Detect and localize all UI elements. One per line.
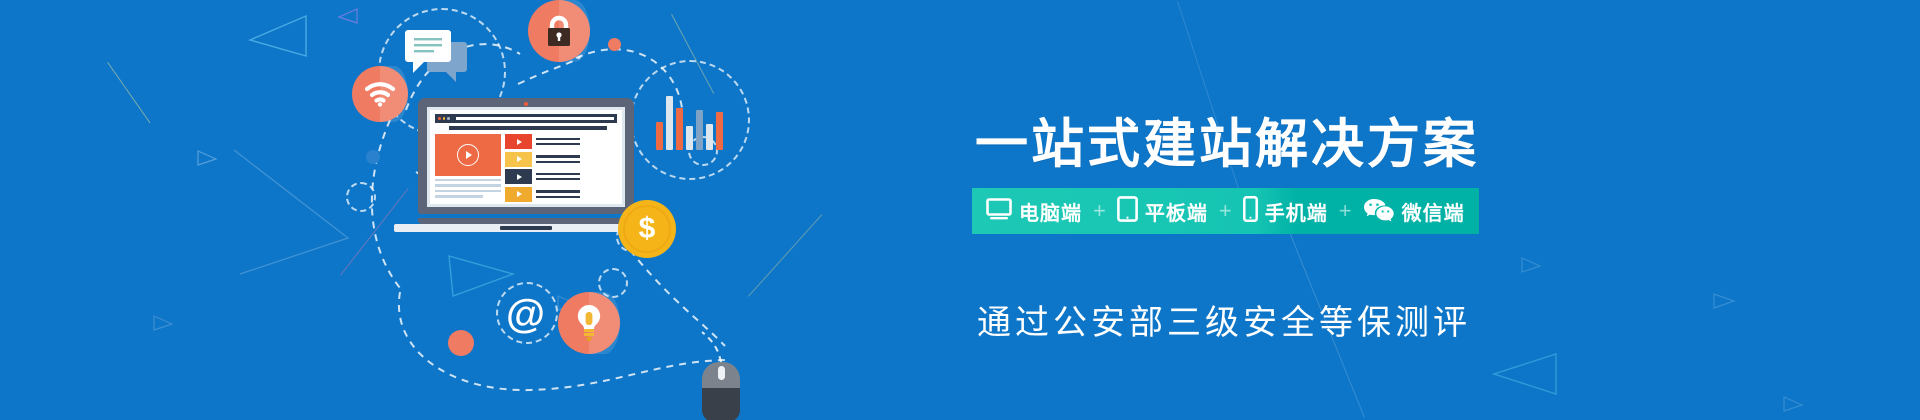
decor-line <box>107 62 150 123</box>
lightbulb-icon <box>558 292 620 354</box>
decor-triangle <box>196 150 218 166</box>
chat-bubbles-icon <box>402 28 480 99</box>
mouse-top-shell <box>702 362 740 388</box>
page-body <box>435 134 617 202</box>
badge-separator: + <box>1093 198 1106 224</box>
traffic-light-red <box>438 117 441 120</box>
list-item <box>505 187 580 202</box>
badge-label-phone: 手机端 <box>1265 197 1328 226</box>
traffic-light-gray <box>447 117 450 120</box>
dollar-coin-icon: $ <box>618 200 676 258</box>
computer-mouse-icon <box>702 362 740 420</box>
browser-url-bar <box>456 117 615 121</box>
page-title: 一站式建站解决方案 <box>975 102 1479 178</box>
browser-chrome <box>435 114 617 123</box>
badge-item-desktop[interactable]: 电脑端 <box>986 197 1082 226</box>
laptop-camera-dot <box>524 102 528 106</box>
badge-label-tablet: 平板端 <box>1145 197 1208 226</box>
laptop-trackpad <box>500 226 552 230</box>
badge-item-tablet[interactable]: 平板端 <box>1117 196 1208 227</box>
badge-label-wechat: 微信端 <box>1402 197 1465 226</box>
decor-triangle <box>248 14 308 58</box>
video-thumbnail <box>505 134 532 149</box>
list-item <box>505 152 580 167</box>
list-item <box>505 134 580 149</box>
certification-text: 通过公安部三级安全等保测评 <box>977 295 1471 344</box>
paragraph-lines <box>435 179 501 198</box>
decor-triangle <box>1782 396 1804 412</box>
badge-separator: + <box>1339 198 1352 224</box>
lock-icon <box>528 0 590 62</box>
laptop-lid <box>418 98 634 214</box>
badge-item-phone[interactable]: 手机端 <box>1243 196 1328 227</box>
video-thumbnail <box>505 187 532 202</box>
promo-banner: $ @ 一 <box>0 0 1920 420</box>
decor-dot <box>448 330 474 356</box>
page-heading-bar <box>449 126 607 130</box>
website-mockup <box>430 110 622 204</box>
platform-badge-bar: 电脑端 + 平板端 + <box>972 188 1479 234</box>
tablet-icon <box>1117 196 1138 227</box>
wechat-icon <box>1363 197 1395 226</box>
decor-dot <box>366 150 380 164</box>
illustration-cluster: $ @ <box>330 0 950 420</box>
dollar-symbol: $ <box>639 214 656 244</box>
laptop-screen <box>427 107 625 207</box>
desktop-monitor-icon <box>986 198 1012 225</box>
badge-label-desktop: 电脑端 <box>1019 197 1082 226</box>
list-item <box>505 169 580 184</box>
decor-triangle <box>152 315 174 331</box>
small-dashed-circle <box>346 182 376 212</box>
bar-chart-icon <box>656 88 723 150</box>
mouse-scroll-wheel <box>718 366 725 380</box>
smartphone-icon <box>1243 196 1258 227</box>
decor-triangle <box>1712 292 1736 310</box>
hero-video-block <box>435 134 501 176</box>
banner-content: 一站式建站解决方案 电脑端 + <box>975 0 1675 420</box>
video-thumbnail <box>505 152 532 167</box>
mouse-bottom-shell <box>702 388 740 420</box>
play-button-icon <box>457 144 479 166</box>
at-symbol-icon: @ <box>506 294 545 334</box>
decor-dot <box>608 38 621 51</box>
thumbnail-list <box>505 134 580 202</box>
traffic-light-yellow <box>443 117 446 120</box>
video-thumbnail <box>505 169 532 184</box>
badge-item-wechat[interactable]: 微信端 <box>1363 197 1465 226</box>
laptop-website-icon <box>394 98 658 238</box>
badge-separator: + <box>1219 198 1232 224</box>
